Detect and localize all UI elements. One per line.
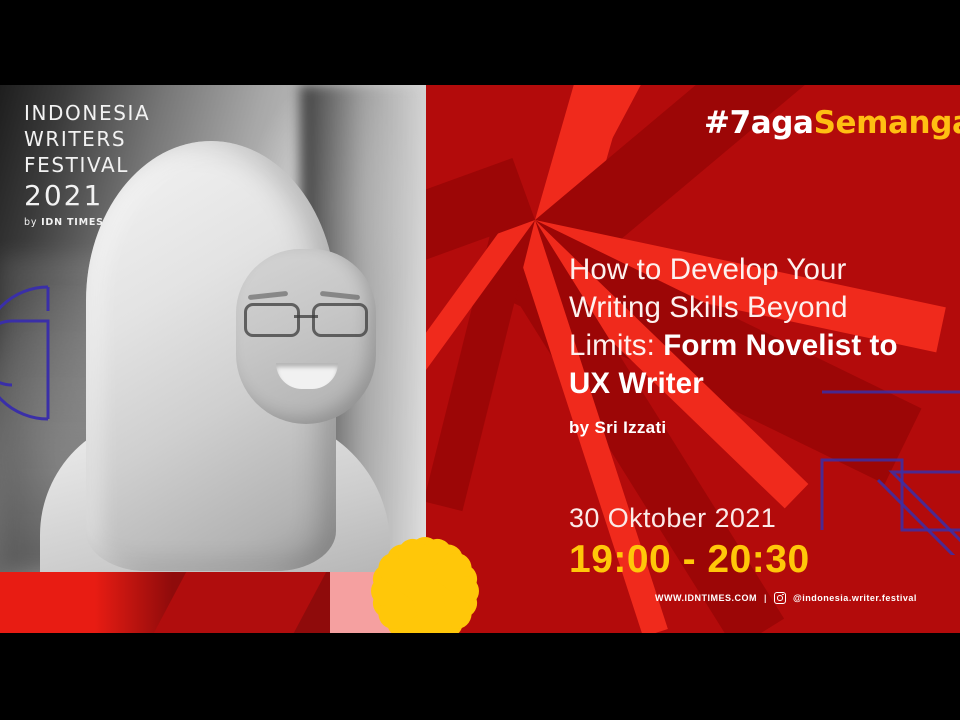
glasses-icon (244, 303, 368, 333)
logo-byline: by IDN TIMES (24, 217, 150, 228)
blue-concentric-arcs-icon (0, 281, 84, 431)
session-time: 19:00 - 20:30 (569, 538, 810, 582)
logo-year: 2021 (24, 178, 150, 214)
footer-separator: | (764, 593, 767, 603)
video-still-canvas: INDONESIA WRITERS FESTIVAL 2021 by IDN T… (0, 0, 960, 720)
footer-website: WWW.IDNTIMES.COM (655, 593, 757, 603)
yellow-asterisk-icon (318, 483, 532, 633)
session-speaker: by Sri Izzati (569, 418, 666, 438)
logo-line-2: WRITERS (24, 126, 150, 152)
eyebrow-left (248, 291, 288, 300)
logo-brand: IDN TIMES (41, 217, 104, 228)
session-date: 30 Oktober 2021 (569, 503, 776, 534)
footer-contact: WWW.IDNTIMES.COM | @indonesia.writer.fes… (655, 592, 917, 604)
photo-subject-smile (276, 363, 338, 389)
eyebrow-right (320, 291, 360, 300)
hashtag-white-part: #7aga (704, 105, 814, 141)
logo-line-1: INDONESIA (24, 100, 150, 126)
logo-by-prefix: by (24, 217, 37, 228)
campaign-hashtag: #7agaSemangat (704, 105, 960, 141)
photo-subject-face (236, 249, 376, 424)
session-title: How to Develop Your Writing Skills Beyon… (569, 251, 939, 403)
blue-arrow-outline-icon (814, 380, 960, 555)
logo-line-3: FESTIVAL (24, 152, 150, 178)
instagram-icon (774, 592, 786, 604)
festival-logo: INDONESIA WRITERS FESTIVAL 2021 by IDN T… (24, 100, 150, 228)
footer-instagram-handle: @indonesia.writer.festival (793, 593, 917, 603)
hashtag-yellow-part: Semangat (814, 105, 960, 141)
